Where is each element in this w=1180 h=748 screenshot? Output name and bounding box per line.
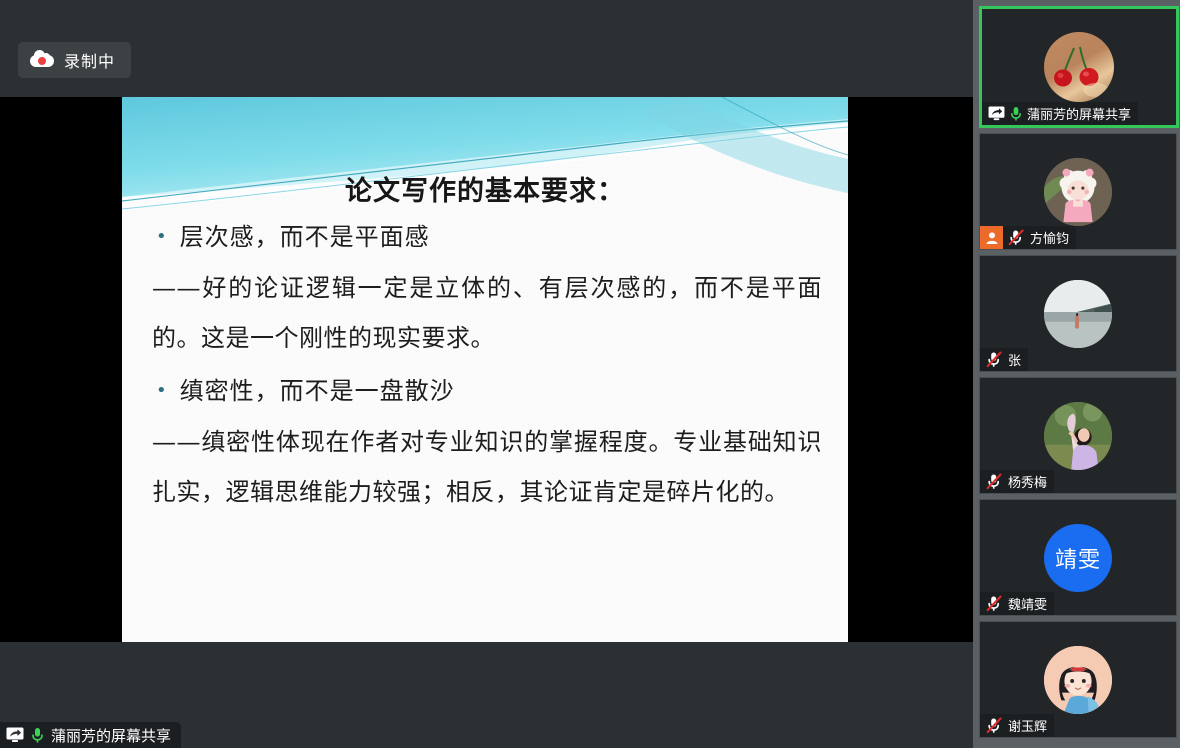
screen-share-icon	[988, 106, 1005, 121]
initials-avatar: 靖雯	[1044, 524, 1112, 592]
girl-cartoon-avatar	[1044, 646, 1112, 714]
recording-indicator[interactable]: 录制中	[18, 42, 131, 78]
slide-paragraph-2: ——缜密性体现在作者对专业知识的掌握程度。专业基础知识扎实，逻辑思维能力较强；相…	[152, 417, 822, 517]
avatar	[1044, 402, 1112, 470]
participant-tile-screenshare[interactable]: 蒲丽芳的屏幕共享	[979, 6, 1179, 128]
screen-share-icon	[6, 727, 24, 743]
tile-footer: 方愉钧	[980, 226, 1076, 249]
mic-muted-icon	[986, 595, 1003, 612]
slide-bullet-1-text: 层次感，而不是平面感	[180, 215, 430, 259]
participant-name: 方愉钧	[1030, 228, 1069, 247]
presentation-slide: 论文写作的基本要求： • 层次感，而不是平面感 ——好的论证逻辑一定是立体的、有…	[122, 97, 848, 642]
participant-name: 张	[1008, 350, 1021, 369]
mic-muted-icon	[986, 351, 1003, 368]
sharer-name-badge: 蒲丽芳的屏幕共享	[0, 722, 181, 748]
mic-muted-icon	[986, 473, 1003, 490]
participant-tile-xieyuhui[interactable]: 谢玉辉	[979, 621, 1177, 738]
mic-muted-icon	[1008, 229, 1025, 246]
participant-name: 蒲丽芳的屏幕共享	[1027, 104, 1131, 123]
slide-title: 论文写作的基本要求：	[122, 169, 848, 208]
participant-tile-yangxiumei[interactable]: 杨秀梅	[979, 377, 1177, 494]
lake-photo-avatar	[1044, 280, 1112, 348]
avatar	[1044, 280, 1112, 348]
stage-letterbox-top	[0, 0, 973, 97]
bullet-dot-icon: •	[156, 369, 168, 413]
zoom-meeting-window: 录制中	[0, 0, 1180, 748]
slide-body: • 层次感，而不是平面感 ——好的论证逻辑一定是立体的、有层次感的，而不是平面的…	[152, 215, 822, 523]
tile-footer: 蒲丽芳的屏幕共享	[982, 102, 1138, 125]
participant-filmstrip[interactable]: 蒲丽芳的屏幕共享	[973, 0, 1180, 748]
slide-bullet-2-text: 缜密性，而不是一盘散沙	[180, 369, 455, 413]
tile-footer: 杨秀梅	[980, 470, 1054, 493]
avatar	[1044, 32, 1114, 102]
slide-bullet-1: • 层次感，而不是平面感	[156, 215, 822, 259]
sheep-cartoon-avatar	[1044, 158, 1112, 226]
tile-footer: 魏靖雯	[980, 592, 1054, 615]
mic-on-icon	[1010, 106, 1022, 122]
slide-paragraph-1: ——好的论证逻辑一定是立体的、有层次感的，而不是平面的。这是一个刚性的现实要求。	[152, 263, 822, 363]
participant-tile-weijingwen[interactable]: 靖雯 魏靖雯	[979, 499, 1177, 616]
mic-muted-icon	[986, 717, 1003, 734]
participant-name: 魏靖雯	[1008, 594, 1047, 613]
bullet-dot-icon: •	[156, 215, 168, 259]
host-badge-icon	[980, 226, 1003, 249]
participant-tile-fangyujun[interactable]: 方愉钧	[979, 133, 1177, 250]
tile-footer: 谢玉辉	[980, 714, 1054, 737]
tile-footer: 张	[980, 348, 1028, 371]
participant-name: 谢玉辉	[1008, 716, 1047, 735]
avatar	[1044, 158, 1112, 226]
cherry-photo-avatar	[1044, 32, 1114, 102]
slide-bullet-2: • 缜密性，而不是一盘散沙	[156, 369, 822, 413]
sharer-name-text: 蒲丽芳的屏幕共享	[51, 725, 171, 746]
cloud-record-icon	[30, 52, 54, 68]
shared-screen-stage[interactable]: 录制中	[0, 0, 973, 748]
recording-label: 录制中	[64, 48, 115, 72]
avatar: 靖雯	[1044, 524, 1112, 592]
garden-photo-avatar	[1044, 402, 1112, 470]
avatar	[1044, 646, 1112, 714]
mic-on-icon	[31, 727, 44, 744]
participant-tile-zhang[interactable]: 张	[979, 255, 1177, 372]
participant-name: 杨秀梅	[1008, 472, 1047, 491]
